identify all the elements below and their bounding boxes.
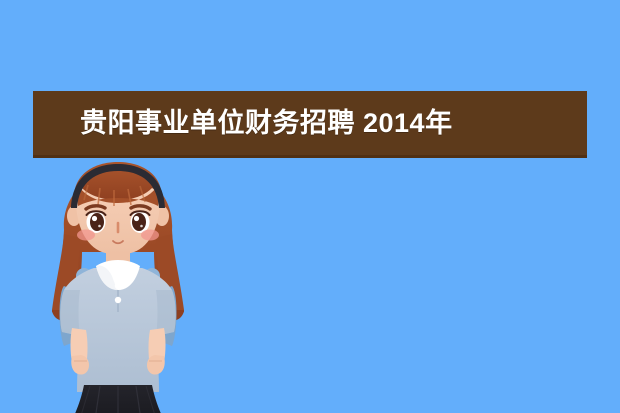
schoolgirl-illustration	[28, 160, 208, 413]
title-banner: 贵阳事业单位财务招聘 2014年	[33, 91, 587, 158]
page-title: 贵阳事业单位财务招聘 2014年	[33, 110, 453, 137]
banner-canvas: 贵阳事业单位财务招聘 2014年	[0, 0, 620, 413]
